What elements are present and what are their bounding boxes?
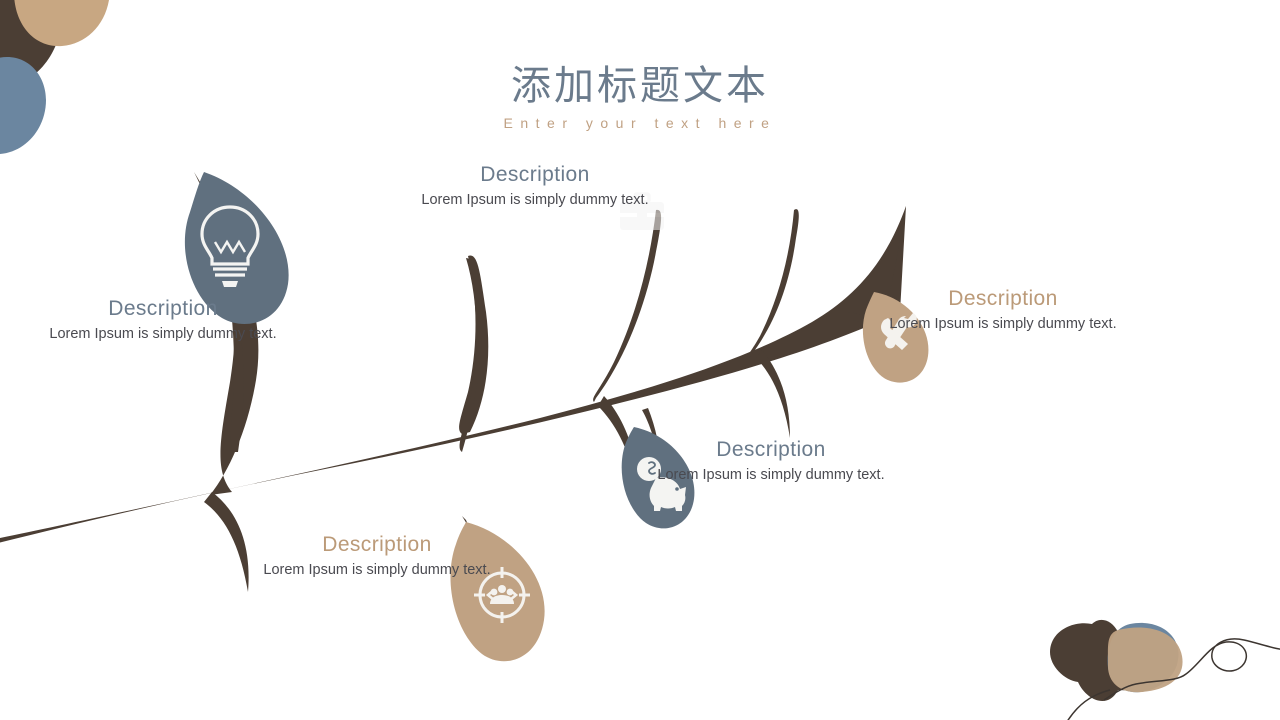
page-title: 添加标题文本 [0, 62, 1280, 109]
target-people-figures [490, 585, 514, 604]
description-savings: Description Lorem Ipsum is simply dummy … [656, 437, 886, 487]
title-block: 添加标题文本 Enter your text here [0, 62, 1280, 131]
slide-canvas: 添加标题文本 Enter your text here [0, 0, 1280, 720]
description-body: Lorem Ipsum is simply dummy text. [420, 190, 650, 211]
description-title: Description [262, 532, 492, 557]
description-title: Description [48, 296, 278, 321]
description-body: Lorem Ipsum is simply dummy text. [262, 560, 492, 581]
description-target: Description Lorem Ipsum is simply dummy … [262, 532, 492, 582]
description-body: Lorem Ipsum is simply dummy text. [656, 465, 886, 486]
description-body: Lorem Ipsum is simply dummy text. [888, 314, 1118, 335]
description-briefcase: Description Lorem Ipsum is simply dummy … [420, 162, 650, 212]
description-title: Description [420, 162, 650, 187]
decor-bottom-right [1000, 600, 1280, 720]
description-title: Description [656, 437, 886, 462]
description-body: Lorem Ipsum is simply dummy text. [48, 324, 278, 345]
description-title: Description [888, 286, 1118, 311]
page-subtitle: Enter your text here [0, 115, 1280, 131]
description-tools: Description Lorem Ipsum is simply dummy … [888, 286, 1118, 336]
lightbulb-icon [202, 207, 258, 287]
description-idea: Description Lorem Ipsum is simply dummy … [48, 296, 278, 346]
